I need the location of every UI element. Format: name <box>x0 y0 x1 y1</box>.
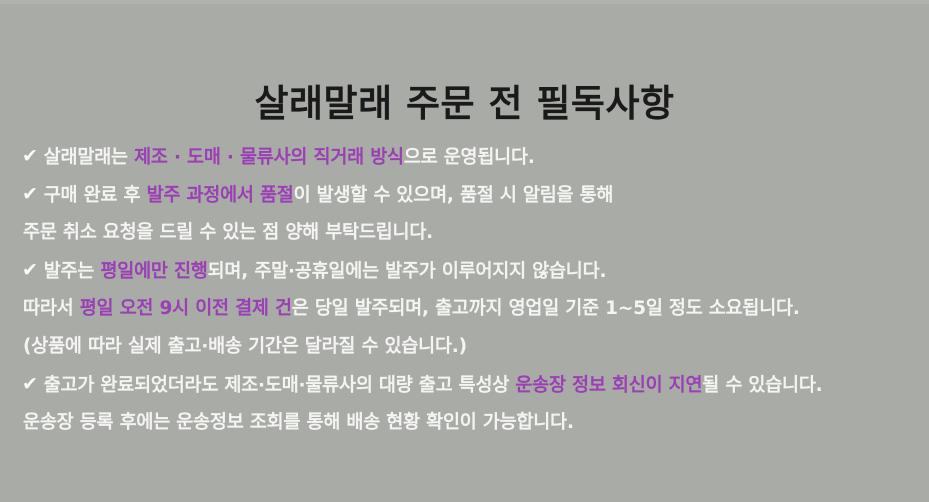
top-edge-strip <box>0 0 929 4</box>
check-icon: ✔ <box>22 365 38 403</box>
notice-line: 운송장 등록 후에는 운송정보 조회를 통해 배송 현황 확인이 가능합니다. <box>22 404 922 442</box>
notice-text: 될 수 있습니다. <box>702 375 822 396</box>
page-title: 살래말래 주문 전 필독사항 <box>0 83 929 126</box>
notice-line: 따라서 평일 오전 9시 이전 결제 건은 당일 발주되며, 출고까지 영업일 … <box>22 290 922 328</box>
notice-text: (상품에 따라 실제 출고·배송 기간은 달라질 수 있습니다.) <box>23 336 467 357</box>
notice-text-highlight: 평일에만 진행 <box>100 261 207 282</box>
notice-text: 살래말래는 <box>44 147 134 168</box>
notice-line: ✔구매 완료 후 발주 과정에서 품절이 발생할 수 있으며, 품절 시 알림을… <box>22 176 922 214</box>
notice-line: ✔출고가 완료되었더라도 제조·도매·물류사의 대량 출고 특성상 운송장 정보… <box>22 366 922 404</box>
notice-text: 발주는 <box>44 261 101 282</box>
notice-text: 따라서 <box>23 298 80 319</box>
notice-text-highlight: 운송장 정보 회신이 지연 <box>515 375 702 396</box>
notice-text: 출고가 완료되었더라도 제조·도매·물류사의 대량 출고 특성상 <box>44 375 516 396</box>
notice-line: ✔살래말래는 제조 · 도매 · 물류사의 직거래 방식으로 운영됩니다. <box>22 138 922 176</box>
notice-text-highlight: 평일 오전 9시 이전 결제 건 <box>80 298 292 319</box>
notice-body: ✔살래말래는 제조 · 도매 · 물류사의 직거래 방식으로 운영됩니다.✔구매… <box>22 138 922 442</box>
notice-line: ✔발주는 평일에만 진행되며, 주말·공휴일에는 발주가 이루어지지 않습니다. <box>22 252 922 290</box>
notice-text: 은 당일 발주되며, 출고까지 영업일 기준 1~5일 정도 소요됩니다. <box>292 298 800 319</box>
notice-text: 이 발생할 수 있으며, 품절 시 알림을 통해 <box>294 185 614 206</box>
notice-line: 주문 취소 요청을 드릴 수 있는 점 양해 부탁드립니다. <box>22 214 922 252</box>
check-icon: ✔ <box>22 251 38 289</box>
notice-text: 주문 취소 요청을 드릴 수 있는 점 양해 부탁드립니다. <box>23 222 433 243</box>
notice-card: 살래말래 주문 전 필독사항 ✔살래말래는 제조 · 도매 · 물류사의 직거래… <box>0 0 929 502</box>
notice-text-highlight: 제조 · 도매 · 물류사의 직거래 방식 <box>134 147 404 168</box>
check-icon: ✔ <box>22 137 38 175</box>
notice-text: 되며, 주말·공휴일에는 발주가 이루어지지 않습니다. <box>208 261 607 282</box>
notice-text: 구매 완료 후 <box>44 185 147 206</box>
notice-text: 운송장 등록 후에는 운송정보 조회를 통해 배송 현황 확인이 가능합니다. <box>23 412 574 433</box>
notice-text: 으로 운영됩니다. <box>404 147 535 168</box>
notice-line: (상품에 따라 실제 출고·배송 기간은 달라질 수 있습니다.) <box>22 328 922 366</box>
check-icon: ✔ <box>22 175 38 213</box>
notice-text-highlight: 발주 과정에서 품절 <box>147 185 294 206</box>
